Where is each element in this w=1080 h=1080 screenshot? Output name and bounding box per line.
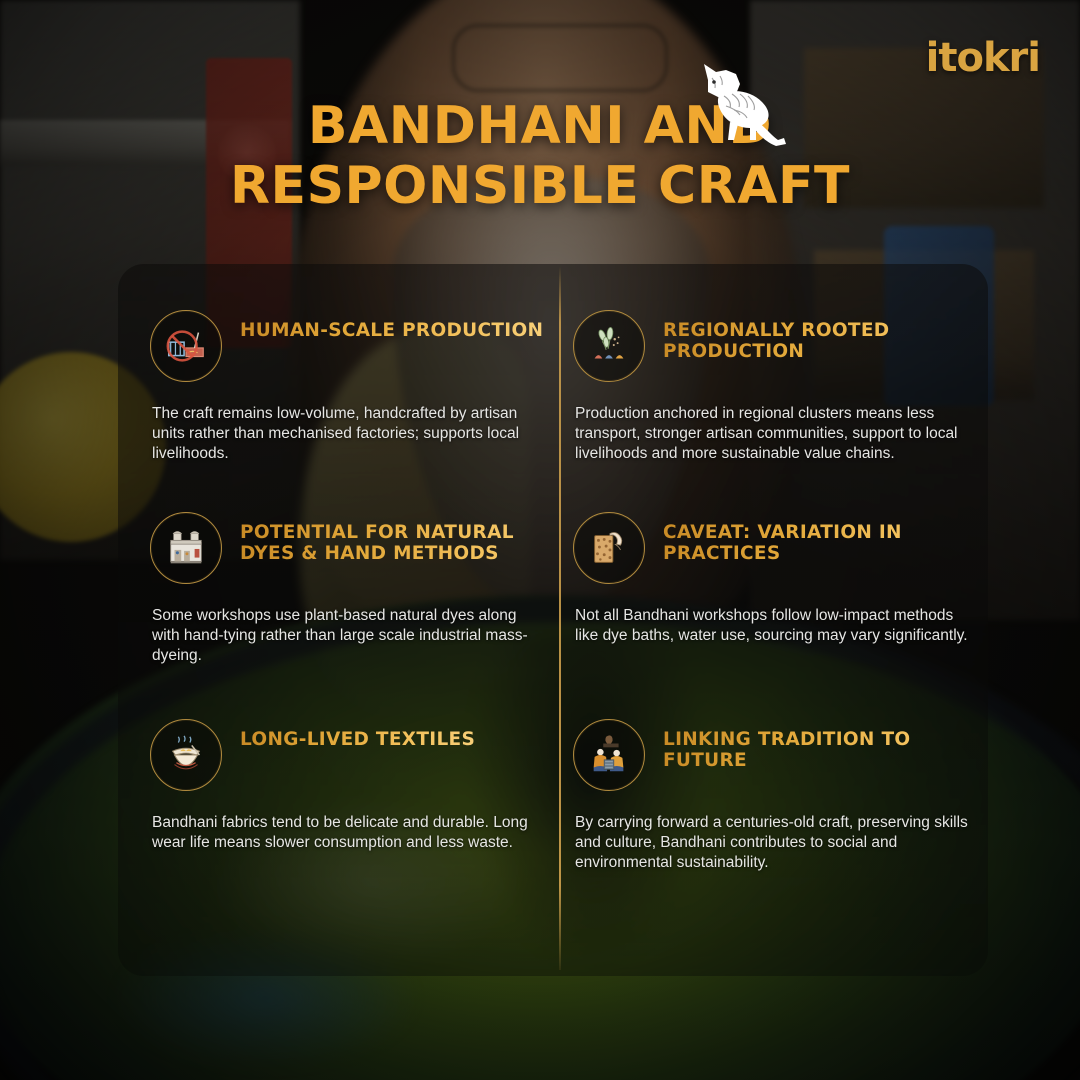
herbs-and-spices-icon: [573, 310, 645, 382]
benefit-heading: LINKING TRADITION TO FUTURE: [663, 719, 993, 772]
benefit-body: Not all Bandhani workshops follow low-im…: [575, 606, 979, 646]
benefit-body: By carrying forward a centuries-old craf…: [575, 813, 979, 873]
benefit-item-natural-dyes-hand-methods: POTENTIAL FOR NATURAL DYES & HAND METHOD…: [150, 512, 570, 666]
two-artisans-icon: [573, 719, 645, 791]
hand-holding-fabric-icon: [573, 512, 645, 584]
benefit-header: LINKING TRADITION TO FUTURE: [573, 719, 993, 791]
page-title: BANDHANI AND RESPONSIBLE CRAFT: [0, 96, 1080, 217]
benefit-body: The craft remains low-volume, handcrafte…: [152, 404, 544, 464]
benefit-heading: REGIONALLY ROOTED PRODUCTION: [663, 310, 993, 363]
infographic-poster: itokri BANDHANI AND RESPONSIBLE CRAFT: [0, 0, 1080, 1080]
benefit-item-long-lived-textiles: LONG-LIVED TEXTILES Bandhani fabrics ten…: [150, 719, 570, 853]
page-title-line-2: RESPONSIBLE CRAFT: [0, 156, 1080, 216]
benefits-grid: HUMAN-SCALE PRODUCTION The craft remains…: [118, 264, 988, 976]
no-factory-icon: [150, 310, 222, 382]
workshop-building-icon: [150, 512, 222, 584]
page-title-line-1: BANDHANI AND: [0, 96, 1080, 156]
benefit-header: POTENTIAL FOR NATURAL DYES & HAND METHOD…: [150, 512, 570, 584]
benefit-heading: CAVEAT: VARIATION IN PRACTICES: [663, 512, 993, 565]
benefit-heading: POTENTIAL FOR NATURAL DYES & HAND METHOD…: [240, 512, 570, 565]
benefit-item-caveat-variation-in-practices: CAVEAT: VARIATION IN PRACTICES Not all B…: [573, 512, 993, 646]
benefit-header: REGIONALLY ROOTED PRODUCTION: [573, 310, 993, 382]
steaming-dye-pot-icon: [150, 719, 222, 791]
cat-illustration-icon: [690, 58, 798, 150]
benefit-header: HUMAN-SCALE PRODUCTION: [150, 310, 570, 382]
benefit-item-human-scale-production: HUMAN-SCALE PRODUCTION The craft remains…: [150, 310, 570, 464]
benefit-header: CAVEAT: VARIATION IN PRACTICES: [573, 512, 993, 584]
benefit-heading: LONG-LIVED TEXTILES: [240, 719, 475, 750]
benefit-body: Bandhani fabrics tend to be delicate and…: [152, 813, 544, 853]
benefit-body: Some workshops use plant-based natural d…: [152, 606, 544, 666]
benefit-heading: HUMAN-SCALE PRODUCTION: [240, 310, 543, 341]
brand-logo[interactable]: itokri: [926, 38, 1040, 78]
benefit-body: Production anchored in regional clusters…: [575, 404, 979, 464]
benefit-item-regionally-rooted-production: REGIONALLY ROOTED PRODUCTION Production …: [573, 310, 993, 464]
benefit-item-linking-tradition-to-future: LINKING TRADITION TO FUTURE By carrying …: [573, 719, 993, 873]
benefit-header: LONG-LIVED TEXTILES: [150, 719, 570, 791]
